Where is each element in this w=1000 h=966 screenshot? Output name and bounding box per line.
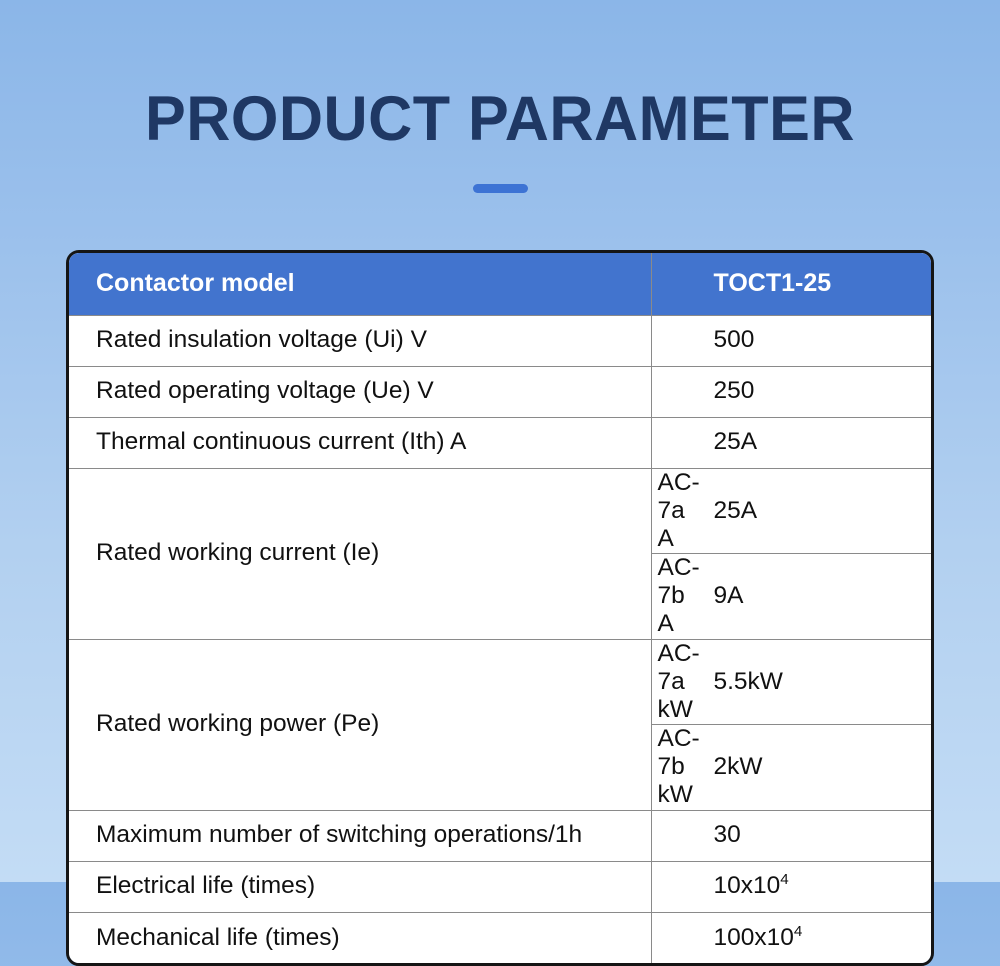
row-label-cell: Rated insulation voltage (Ui) V: [69, 315, 651, 366]
row-value-text: 250: [652, 377, 932, 405]
row-value-text: 25A: [652, 428, 932, 456]
row-value-cell: 500: [651, 315, 931, 366]
row-label-cell: Thermal continuous current (Ith) A: [69, 417, 651, 468]
row-label-cell: Maximum number of switching operations/1…: [69, 810, 651, 861]
table-row: Rated working current (Ie) AC-7a A 25A: [69, 468, 931, 554]
table-header-value-cell: TOCT1-25: [651, 253, 931, 315]
exponent: 4: [794, 923, 802, 940]
table-row: Thermal continuous current (Ith) A 25A: [69, 417, 931, 468]
table-row: Rated operating voltage (Ue) V 250: [69, 366, 931, 417]
title-underline-rule: [473, 184, 528, 193]
row-value-text: 500: [652, 326, 932, 354]
exponent: 4: [780, 871, 788, 888]
group-label-cell-rated-working-current: Rated working current (Ie): [69, 468, 651, 639]
table-row: Rated insulation voltage (Ui) V 500: [69, 315, 931, 366]
table-row: Electrical life (times) 10x104: [69, 861, 931, 912]
row-value-text: 100x104: [652, 924, 932, 952]
row-value-cell: 25A: [651, 417, 931, 468]
row-value-text: 5.5kW: [652, 668, 932, 696]
row-value-text: 9A: [652, 582, 932, 610]
row-label-text: Mechanical life (times): [69, 924, 651, 952]
page-header: PRODUCT PARAMETER: [0, 88, 1000, 193]
row-value-cell: 10x104: [651, 861, 931, 912]
group-label-text: Rated working current (Ie): [69, 539, 651, 567]
specification-table-card: Contactor model TOCT1-25 Rated insulatio…: [66, 250, 934, 966]
row-value-cell: 250: [651, 366, 931, 417]
row-value-text: 2kW: [652, 753, 932, 781]
row-value-text: 25A: [652, 497, 932, 525]
row-label-text: Maximum number of switching operations/1…: [69, 821, 651, 849]
table-header-label-text: Contactor model: [69, 269, 651, 298]
row-label-cell: Rated operating voltage (Ue) V: [69, 366, 651, 417]
row-label-cell: Mechanical life (times): [69, 912, 651, 963]
table-header-label-cell: Contactor model: [69, 253, 651, 315]
row-value-cell: 100x104: [651, 912, 931, 963]
row-label-text: Thermal continuous current (Ith) A: [69, 428, 651, 456]
table-header-row: Contactor model TOCT1-25: [69, 253, 931, 315]
specification-table: Contactor model TOCT1-25 Rated insulatio…: [69, 253, 931, 963]
table-row: Rated working power (Pe) AC-7a kW 5.5kW: [69, 639, 931, 725]
table-header-value-text: TOCT1-25: [652, 269, 932, 298]
row-label-text: Rated operating voltage (Ue) V: [69, 377, 651, 405]
table-row: Mechanical life (times) 100x104: [69, 912, 931, 963]
row-value-text: 30: [652, 821, 932, 849]
group-label-text: Rated working power (Pe): [69, 710, 651, 738]
table-row: Maximum number of switching operations/1…: [69, 810, 931, 861]
product-parameter-page: PRODUCT PARAMETER Contactor model TOCT1-…: [0, 0, 1000, 882]
row-value-text: 10x104: [652, 872, 932, 900]
group-label-cell-rated-working-power: Rated working power (Pe): [69, 639, 651, 810]
row-label-text: Electrical life (times): [69, 872, 651, 900]
row-label-cell: Electrical life (times): [69, 861, 651, 912]
row-value-cell: 30: [651, 810, 931, 861]
row-label-text: Rated insulation voltage (Ui) V: [69, 326, 651, 354]
page-title: PRODUCT PARAMETER: [15, 88, 985, 151]
